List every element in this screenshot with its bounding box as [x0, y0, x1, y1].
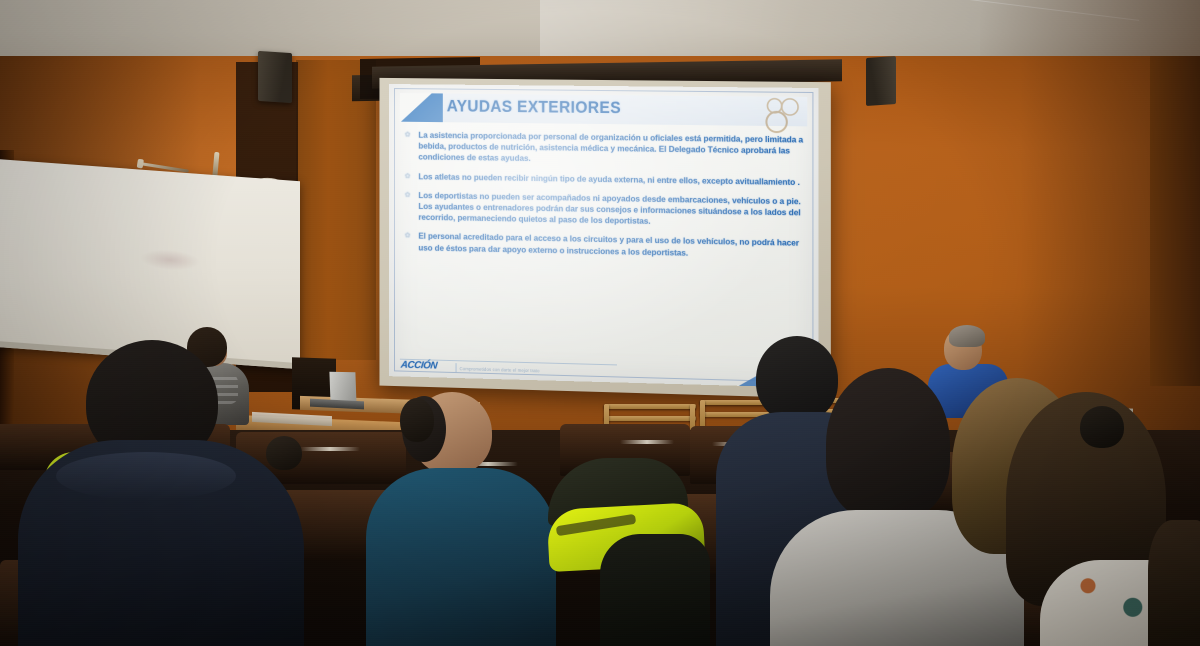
slide-bullet: Los atletas no pueden recibir ningún tip…: [402, 171, 806, 188]
seat-highlight: [300, 447, 360, 451]
jacket-lower: [600, 534, 710, 646]
seat-highlight: [620, 440, 674, 444]
three-rings-icon: [761, 96, 806, 135]
attendee-head: [826, 368, 950, 520]
attendee-head: [400, 398, 434, 442]
attendee-head: [1080, 406, 1124, 448]
slide-bullet-list: La asistencia proporcionada por personal…: [402, 130, 806, 269]
presentation-slide: AYUDAS EXTERIORES La asistencia proporci…: [389, 84, 818, 388]
slide-bullet: Los deportistas no pueden ser acompañado…: [402, 190, 806, 230]
ceiling-speaker-left-icon: [258, 51, 292, 103]
wall-pillar: [296, 60, 376, 360]
slide-bullet: La asistencia proporcionada por personal…: [402, 130, 806, 169]
attendee-head: [266, 436, 302, 470]
attendee-head: [756, 336, 838, 422]
slide-footer-separator: [456, 363, 457, 372]
wooden-chair-back: [604, 404, 696, 409]
attendee-blue-shirt-torso: [366, 468, 556, 646]
hood-fold: [56, 452, 236, 500]
slide-bullet: El personal acreditado para el acceso a …: [402, 231, 806, 261]
staff-hair: [949, 325, 985, 347]
slide-title: AYUDAS EXTERIORES: [447, 96, 621, 118]
wall-strip-right: [1150, 56, 1200, 386]
wooden-chair-back: [604, 416, 696, 421]
attendee-head: [1148, 520, 1200, 646]
wooden-chair-leg: [700, 400, 705, 428]
slide-footer-logo: ACCIÓN: [400, 360, 437, 372]
ceiling-speaker-right-icon: [866, 56, 896, 106]
presentation-room-photo: AYUDAS EXTERIORES La asistencia proporci…: [0, 0, 1200, 646]
whiteboard-smudge: [140, 248, 200, 272]
